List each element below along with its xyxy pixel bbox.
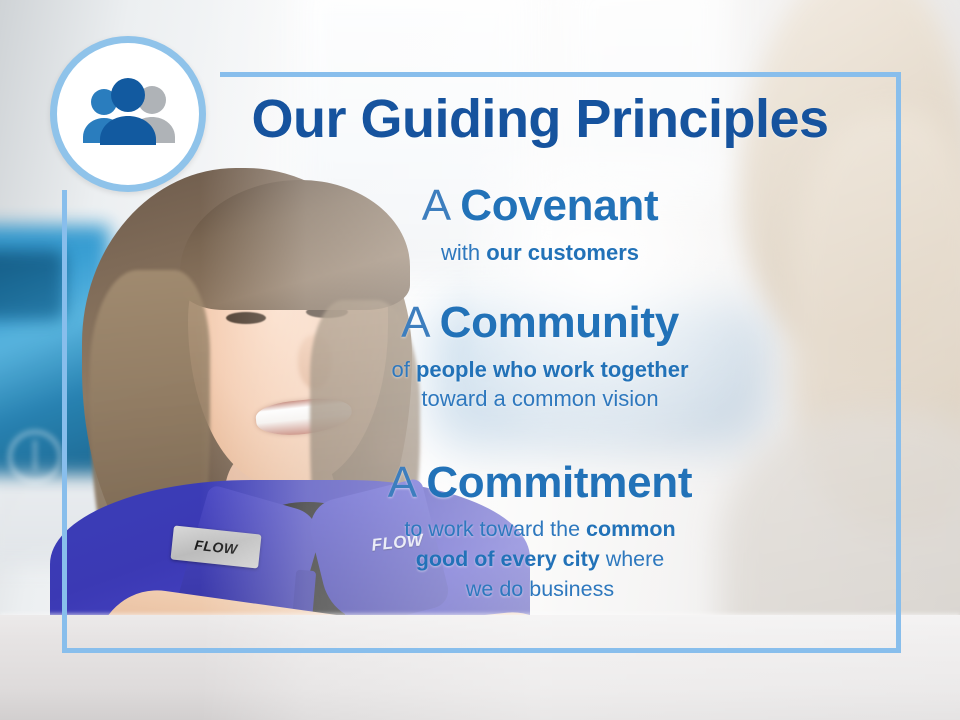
principle-article: A	[401, 298, 440, 347]
principle-keyword: Commitment	[426, 458, 692, 507]
principle-item-commitment: A Commitment to work toward the commongo…	[200, 460, 880, 604]
principle-item-community: A Community of people who work togethert…	[200, 300, 880, 413]
principle-keyword: Covenant	[460, 181, 658, 230]
principle-item-covenant: A Covenant with our customers	[200, 183, 880, 267]
showroom-vehicle-shadow	[0, 250, 65, 320]
principle-article: A	[422, 181, 461, 230]
principle-article: A	[388, 458, 427, 507]
principle-subtext: to work toward the commongood of every c…	[200, 515, 880, 604]
people-group-icon	[76, 76, 180, 152]
principle-heading: A Covenant	[200, 183, 880, 229]
principle-keyword: Community	[440, 298, 679, 347]
text-content: Our Guiding Principles A Covenant with o…	[200, 0, 900, 660]
principle-heading: A Commitment	[200, 460, 880, 506]
page-title: Our Guiding Principles	[200, 92, 880, 146]
principle-subtext: with our customers	[200, 238, 880, 267]
frame-border-left	[62, 190, 67, 653]
banner-graphic: FLOW FLOW	[0, 0, 960, 720]
principle-heading: A Community	[200, 300, 880, 346]
people-group-icon-badge	[50, 36, 206, 192]
principle-subtext: of people who work togethertoward a comm…	[200, 355, 880, 413]
vehicle-emblem-icon	[8, 430, 62, 484]
